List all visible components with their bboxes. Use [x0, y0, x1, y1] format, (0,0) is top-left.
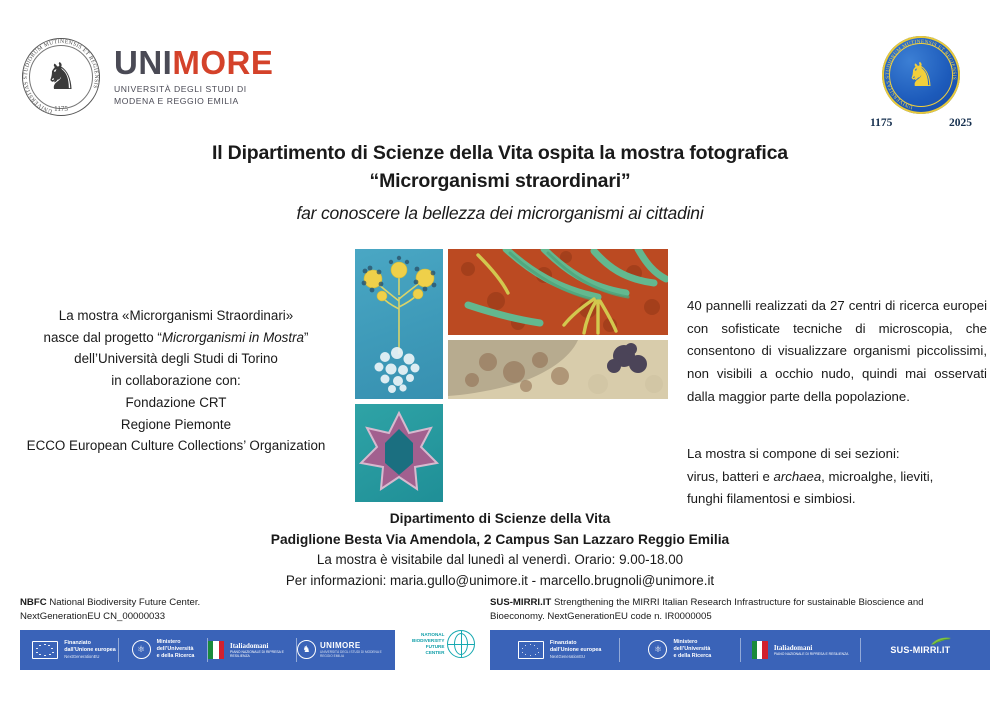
- sus-mirri-caption-line2: Bioeconomy. NextGenerationEU code n. IR0…: [490, 611, 712, 622]
- italiadomani-tiny: PIANO NAZIONALE DI RIPRESA E RESILIENZA: [774, 652, 849, 656]
- left-line-2-suffix: ”: [304, 330, 308, 345]
- italy-flag-icon: [752, 641, 768, 659]
- footer-left-logo-bar: Finanziato dall’Unione europea NextGener…: [20, 630, 395, 670]
- sus-mirri-word: SUS-MIRRI.IT: [890, 645, 950, 655]
- eu-funded-line1: Finanziato: [550, 640, 602, 647]
- nbfc-logo-line4: CENTER: [412, 650, 444, 656]
- left-line-4: in collaborazione con:: [6, 370, 346, 392]
- cyanobacteria-illustration: [448, 249, 668, 335]
- footer-right-block: SUS-MIRRI.IT Strengthening the MIRRI Ita…: [490, 596, 990, 670]
- left-line-1: La mostra «Microrganismi Straordinari»: [6, 305, 346, 327]
- unimore-footer-word: UNIMORE: [320, 641, 361, 650]
- italiadomani-word: Italiadomani: [774, 644, 813, 652]
- collage-right-column: [448, 249, 668, 399]
- fungus-illustration: [355, 249, 443, 399]
- nbfc-logo: NATIONAL BIODIVERSITY FUTURE CENTER: [412, 630, 486, 658]
- sus-mirri-acronym: SUS-MIRRI.IT: [490, 597, 551, 608]
- republic-emblem-icon: ⚛: [648, 640, 667, 659]
- globe-icon: [447, 630, 475, 658]
- left-line-2-prefix: nasce dal progetto “: [44, 330, 162, 345]
- nbfc-logo-label: NATIONAL BIODIVERSITY FUTURE CENTER: [412, 632, 444, 656]
- diatom-star-photo: [355, 404, 443, 502]
- footer-right-logo-bar: Finanziato dall’Unione europea NextGener…: [490, 630, 990, 670]
- nbfc-caption-rest: National Biodiversity Future Center.: [47, 597, 201, 608]
- unimore-subtitle-line1: UNIVERSITÀ DEGLI STUDI DI: [114, 84, 273, 96]
- nbfc-caption-line2: NextGenerationEU CN_00000033: [20, 611, 165, 622]
- eu-flag-icon: [518, 641, 544, 659]
- sections-list-line-1: virus, batteri e archaea, microalghe, li…: [687, 466, 987, 489]
- photo-collage: [355, 249, 668, 501]
- italiadomani-logo: Italiadomani PIANO NAZIONALE DI RIPRESA …: [741, 630, 860, 670]
- sections-suffix: , microalghe, lieviti,: [821, 469, 933, 484]
- cyanobacteria-green-photo: [448, 249, 668, 335]
- sus-mirri-label: SUS-MIRRI.IT: [890, 645, 950, 655]
- left-line-3: dell’Università degli Studi di Torino: [6, 348, 346, 370]
- ministry-university-research-logo: ⚛ Ministero dell’Università e della Rice…: [620, 630, 739, 670]
- ministry-line2: dell’Università: [157, 646, 195, 653]
- eu-flag-icon: [32, 641, 58, 659]
- anniversary-year-end: 2025: [949, 117, 972, 129]
- sus-mirri-caption: SUS-MIRRI.IT Strengthening the MIRRI Ita…: [490, 596, 990, 624]
- eu-funded-line1: Finanziato: [64, 640, 116, 647]
- italiadomani-tiny: PIANO NAZIONALE DI RIPRESA E RESILIENZA: [230, 650, 296, 658]
- left-line-2-project-name: Microrganismi in Mostra: [162, 330, 304, 345]
- anniversary-year-start: 1175: [870, 117, 892, 129]
- horse-rider-icon: ♞: [297, 640, 316, 659]
- sections-prefix: virus, batteri e: [687, 469, 774, 484]
- unimore-footer-label: UNIMORE UNIVERSITÀ DEGLI STUDI DI MODENA…: [320, 641, 385, 658]
- italy-flag-icon: [208, 641, 224, 659]
- ministry-line3: e della Ricerca: [673, 653, 711, 660]
- unimore-subtitle-line2: MODENA E REGGIO EMILIA: [114, 96, 273, 108]
- unimore-seal-icon: UNIVERSITAS STUDIORUM MUTINENSIS ET REGI…: [22, 38, 100, 116]
- nbfc-acronym: NBFC: [20, 597, 47, 608]
- diatom-illustration: [355, 404, 443, 502]
- page-title: Il Dipartimento di Scienze della Vita os…: [60, 139, 940, 224]
- eu-funded-label: Finanziato dall’Unione europea NextGener…: [550, 640, 602, 660]
- eu-funded-line3: NextGenerationEU: [550, 654, 602, 660]
- eu-funded-line2: dall’Unione europea: [64, 647, 116, 654]
- leaf-swoosh-icon: [930, 637, 952, 646]
- republic-emblem-icon: ⚛: [132, 640, 151, 659]
- venue-info-block: Dipartimento di Scienze della Vita Padig…: [180, 509, 820, 592]
- anniversary-seal-icon: UNIVERSITAS STUDIORUM MUTINENSIS ET REGI…: [882, 36, 960, 114]
- left-description-block: La mostra «Microrganismi Straordinari» n…: [6, 305, 346, 457]
- left-line-5: Fondazione CRT: [6, 392, 346, 414]
- eu-funded-line3: NextGenerationEU: [64, 654, 116, 660]
- left-line-7: ECCO European Culture Collections’ Organ…: [6, 435, 346, 457]
- anniversary-logo: UNIVERSITAS STUDIORUM MUTINENSIS ET REGI…: [868, 36, 974, 129]
- unimore-footer-logo: ♞ UNIMORE UNIVERSITÀ DEGLI STUDI DI MODE…: [297, 630, 385, 670]
- left-line-6: Regione Piemonte: [6, 414, 346, 436]
- title-line-1: Il Dipartimento di Scienze della Vita os…: [60, 139, 940, 167]
- aspergillus-fungus-photo: [355, 249, 443, 399]
- collage-left-column: [355, 249, 443, 399]
- nbfc-caption: NBFC National Biodiversity Future Center…: [20, 596, 395, 624]
- footer-left-block: NBFC National Biodiversity Future Center…: [20, 596, 395, 670]
- eu-funded-logo: Finanziato dall’Unione europea NextGener…: [500, 630, 619, 670]
- eu-funded-label: Finanziato dall’Unione europea NextGener…: [64, 640, 116, 660]
- eu-funded-line2: dall’Unione europea: [550, 647, 602, 654]
- ministry-line3: e della Ricerca: [157, 653, 195, 660]
- unimore-more-text: MORE: [172, 44, 273, 81]
- venue-hours: La mostra è visitabile dal lunedì al ven…: [180, 550, 820, 571]
- sus-mirri-logo: SUS-MIRRI.IT: [861, 630, 980, 670]
- italiadomani-word: Italiadomani: [230, 642, 269, 650]
- horse-rider-icon: ♞: [44, 58, 77, 95]
- unimore-footer-tiny: UNIVERSITÀ DEGLI STUDI DI MODENA E REGGI…: [320, 650, 385, 658]
- right-description-paragraph-2: La mostra si compone di sei sezioni: vir…: [687, 443, 987, 511]
- ministry-line2: dell’Università: [673, 646, 711, 653]
- unimore-header-logo: UNIVERSITAS STUDIORUM MUTINENSIS ET REGI…: [22, 38, 273, 116]
- venue-contacts: Per informazioni: maria.gullo@unimore.it…: [180, 571, 820, 592]
- sections-list-line-2: funghi filamentosi e simbiosi.: [687, 488, 987, 511]
- left-line-2: nasce dal progetto “Microrganismi in Mos…: [6, 327, 346, 349]
- venue-address: Padiglione Besta Via Amendola, 2 Campus …: [180, 530, 820, 551]
- ministry-label: Ministero dell’Università e della Ricerc…: [157, 639, 195, 661]
- seal-year-label: 1175: [22, 105, 100, 113]
- italiadomani-logo: Italiadomani PIANO NAZIONALE DI RIPRESA …: [208, 630, 296, 670]
- ministry-line1: Ministero: [157, 639, 195, 646]
- italiadomani-label: Italiadomani PIANO NAZIONALE DI RIPRESA …: [230, 642, 296, 658]
- unimore-uni-text: UNI: [114, 44, 172, 81]
- eu-funded-logo: Finanziato dall’Unione europea NextGener…: [30, 630, 118, 670]
- sections-archaea-term: archaea: [774, 469, 822, 484]
- poster-root: UNIVERSITAS STUDIORUM MUTINENSIS ET REGI…: [0, 0, 1000, 706]
- ministry-university-research-logo: ⚛ Ministero dell’Università e della Rice…: [119, 630, 207, 670]
- sus-mirri-caption-rest: Strengthening the MIRRI Italian Research…: [551, 597, 923, 608]
- biofilm-illustration: [448, 340, 668, 399]
- biofilm-sand-photo: [448, 340, 668, 399]
- title-subtitle: far conoscere la bellezza dei microrgani…: [60, 203, 940, 224]
- unimore-wordmark: UNIMORE UNIVERSITÀ DEGLI STUDI DI MODENA…: [114, 46, 273, 107]
- ministry-line1: Ministero: [673, 639, 711, 646]
- title-line-2: “Microrganismi straordinari”: [60, 167, 940, 195]
- right-description-paragraph-1: 40 pannelli realizzati da 27 centri di r…: [687, 295, 987, 409]
- sections-intro-line: La mostra si compone di sei sezioni:: [687, 443, 987, 466]
- venue-department: Dipartimento di Scienze della Vita: [180, 509, 820, 530]
- italiadomani-label: Italiadomani PIANO NAZIONALE DI RIPRESA …: [774, 644, 849, 656]
- horse-rider-icon: ♞: [906, 58, 936, 91]
- ministry-label: Ministero dell’Università e della Ricerc…: [673, 639, 711, 661]
